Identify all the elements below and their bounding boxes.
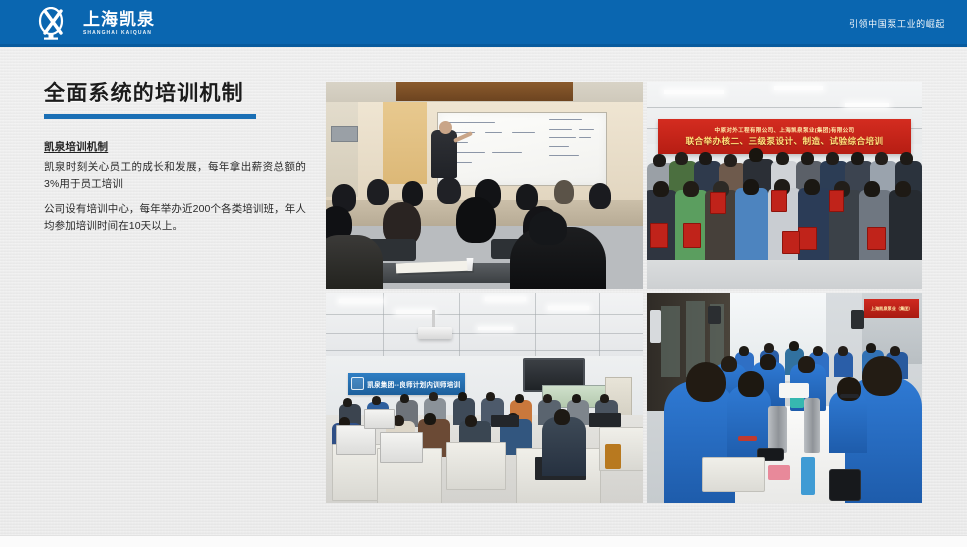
banner-text: 上海凯泉泵业（集团） <box>871 306 913 312</box>
blue-item <box>801 457 815 495</box>
whiteboard <box>437 112 607 186</box>
header-tagline: 引领中国泵工业的崛起 <box>849 17 945 30</box>
page-title: 全面系统的培训机制 <box>44 82 306 106</box>
projector-mount <box>432 310 435 328</box>
banner-line-1: 中原对外工程有限公司、上海凯泉泵业(集团)有限公司 <box>715 126 855 134</box>
kaiquan-circle-logo-icon <box>36 7 76 41</box>
thermos-bottle <box>804 398 821 453</box>
certificate-booklet <box>683 223 702 248</box>
logo-english-name: SHANGHAI KAIQUAN <box>83 31 155 36</box>
audience-group <box>326 177 643 289</box>
laptop <box>491 415 520 428</box>
certificate-booklet <box>650 223 669 248</box>
paragraph-1: 凯泉时刻关心员工的成长和发展，每年拿出薪资总额的3%用于员工培训 <box>44 159 306 193</box>
logo-text: 上海凯泉 SHANGHAI KAIQUAN <box>83 11 155 36</box>
photo-workshop-blue-uniform: 上海凯泉泵业（集团） <box>647 293 922 503</box>
body-text-block: 凯泉培训机制 凯泉时刻关心员工的成长和发展，每年拿出薪资总额的3%用于员工培训 … <box>44 139 306 235</box>
notepad-sheet <box>702 457 765 493</box>
title-underline-rule <box>44 114 256 119</box>
banner-line-2: 联合举办核二、三级泵设计、制造、试验综合培训 <box>686 135 884 147</box>
red-training-banner: 中原对外工程有限公司、上海凯泉泵业(集团)有限公司 联合举办核二、三级泵设计、制… <box>658 119 911 154</box>
instructor-head <box>439 121 452 134</box>
slide-bottom-strip <box>0 535 967 547</box>
certificate-booklet <box>829 190 845 213</box>
sub-heading: 凯泉培训机制 <box>44 139 306 154</box>
logo-chinese-name: 上海凯泉 <box>83 11 155 28</box>
pen <box>738 436 757 441</box>
photo-grid: 中原对外工程有限公司、上海凯泉泵业(集团)有限公司 联合举办核二、三级泵设计、制… <box>326 82 922 503</box>
certificate-booklet <box>782 231 801 254</box>
desktop-monitor <box>380 432 423 463</box>
certificate-booklet <box>798 227 817 250</box>
instructor-body <box>431 130 457 178</box>
wood-beam <box>396 82 574 101</box>
thermos-bottle <box>768 406 787 452</box>
laptop <box>589 413 621 428</box>
desktop-monitor <box>364 409 395 430</box>
tan-wall-column <box>383 102 427 184</box>
pink-powerbank <box>768 465 790 480</box>
certificate-booklet <box>710 192 726 215</box>
pen <box>840 394 859 398</box>
paragraph-2: 公司设有培训中心，每年举办近200个各类培训班，年人均参加培训时间在10天以上。 <box>44 201 306 235</box>
photo-group-certificate: 中原对外工程有限公司、上海凯泉泵业(集团)有限公司 联合举办核二、三级泵设计、制… <box>647 82 922 289</box>
paper-sheet <box>779 383 809 398</box>
certificate-booklet <box>867 227 886 250</box>
floor <box>647 256 922 289</box>
smartphone <box>829 469 861 500</box>
ceiling-projector <box>418 327 452 339</box>
kaiquan-logo-icon <box>351 377 364 390</box>
certificate-booklet <box>771 190 787 213</box>
text-column: 全面系统的培训机制 凯泉培训机制 凯泉时刻关心员工的成长和发展，每年拿出薪资总额… <box>44 82 306 235</box>
photo-computer-training-room: 凯泉集团--良师计划内训师培训 <box>326 293 643 503</box>
wall-control-panel <box>331 126 358 142</box>
blue-training-banner: 凯泉集团--良师计划内训师培训 <box>348 373 465 395</box>
header-bottom-shade <box>0 44 967 47</box>
red-wall-banner: 上海凯泉泵业（集团） <box>864 299 919 318</box>
desktop-monitor <box>336 425 376 454</box>
slide-canvas: 上海凯泉 SHANGHAI KAIQUAN 引领中国泵工业的崛起 全面系统的培训… <box>0 0 967 547</box>
slide-header: 上海凯泉 SHANGHAI KAIQUAN 引领中国泵工业的崛起 <box>0 0 967 47</box>
photo-lecture-classroom <box>326 82 643 289</box>
company-logo: 上海凯泉 SHANGHAI KAIQUAN <box>36 7 155 41</box>
banner-text: 凯泉集团--良师计划内训师培训 <box>367 379 460 389</box>
